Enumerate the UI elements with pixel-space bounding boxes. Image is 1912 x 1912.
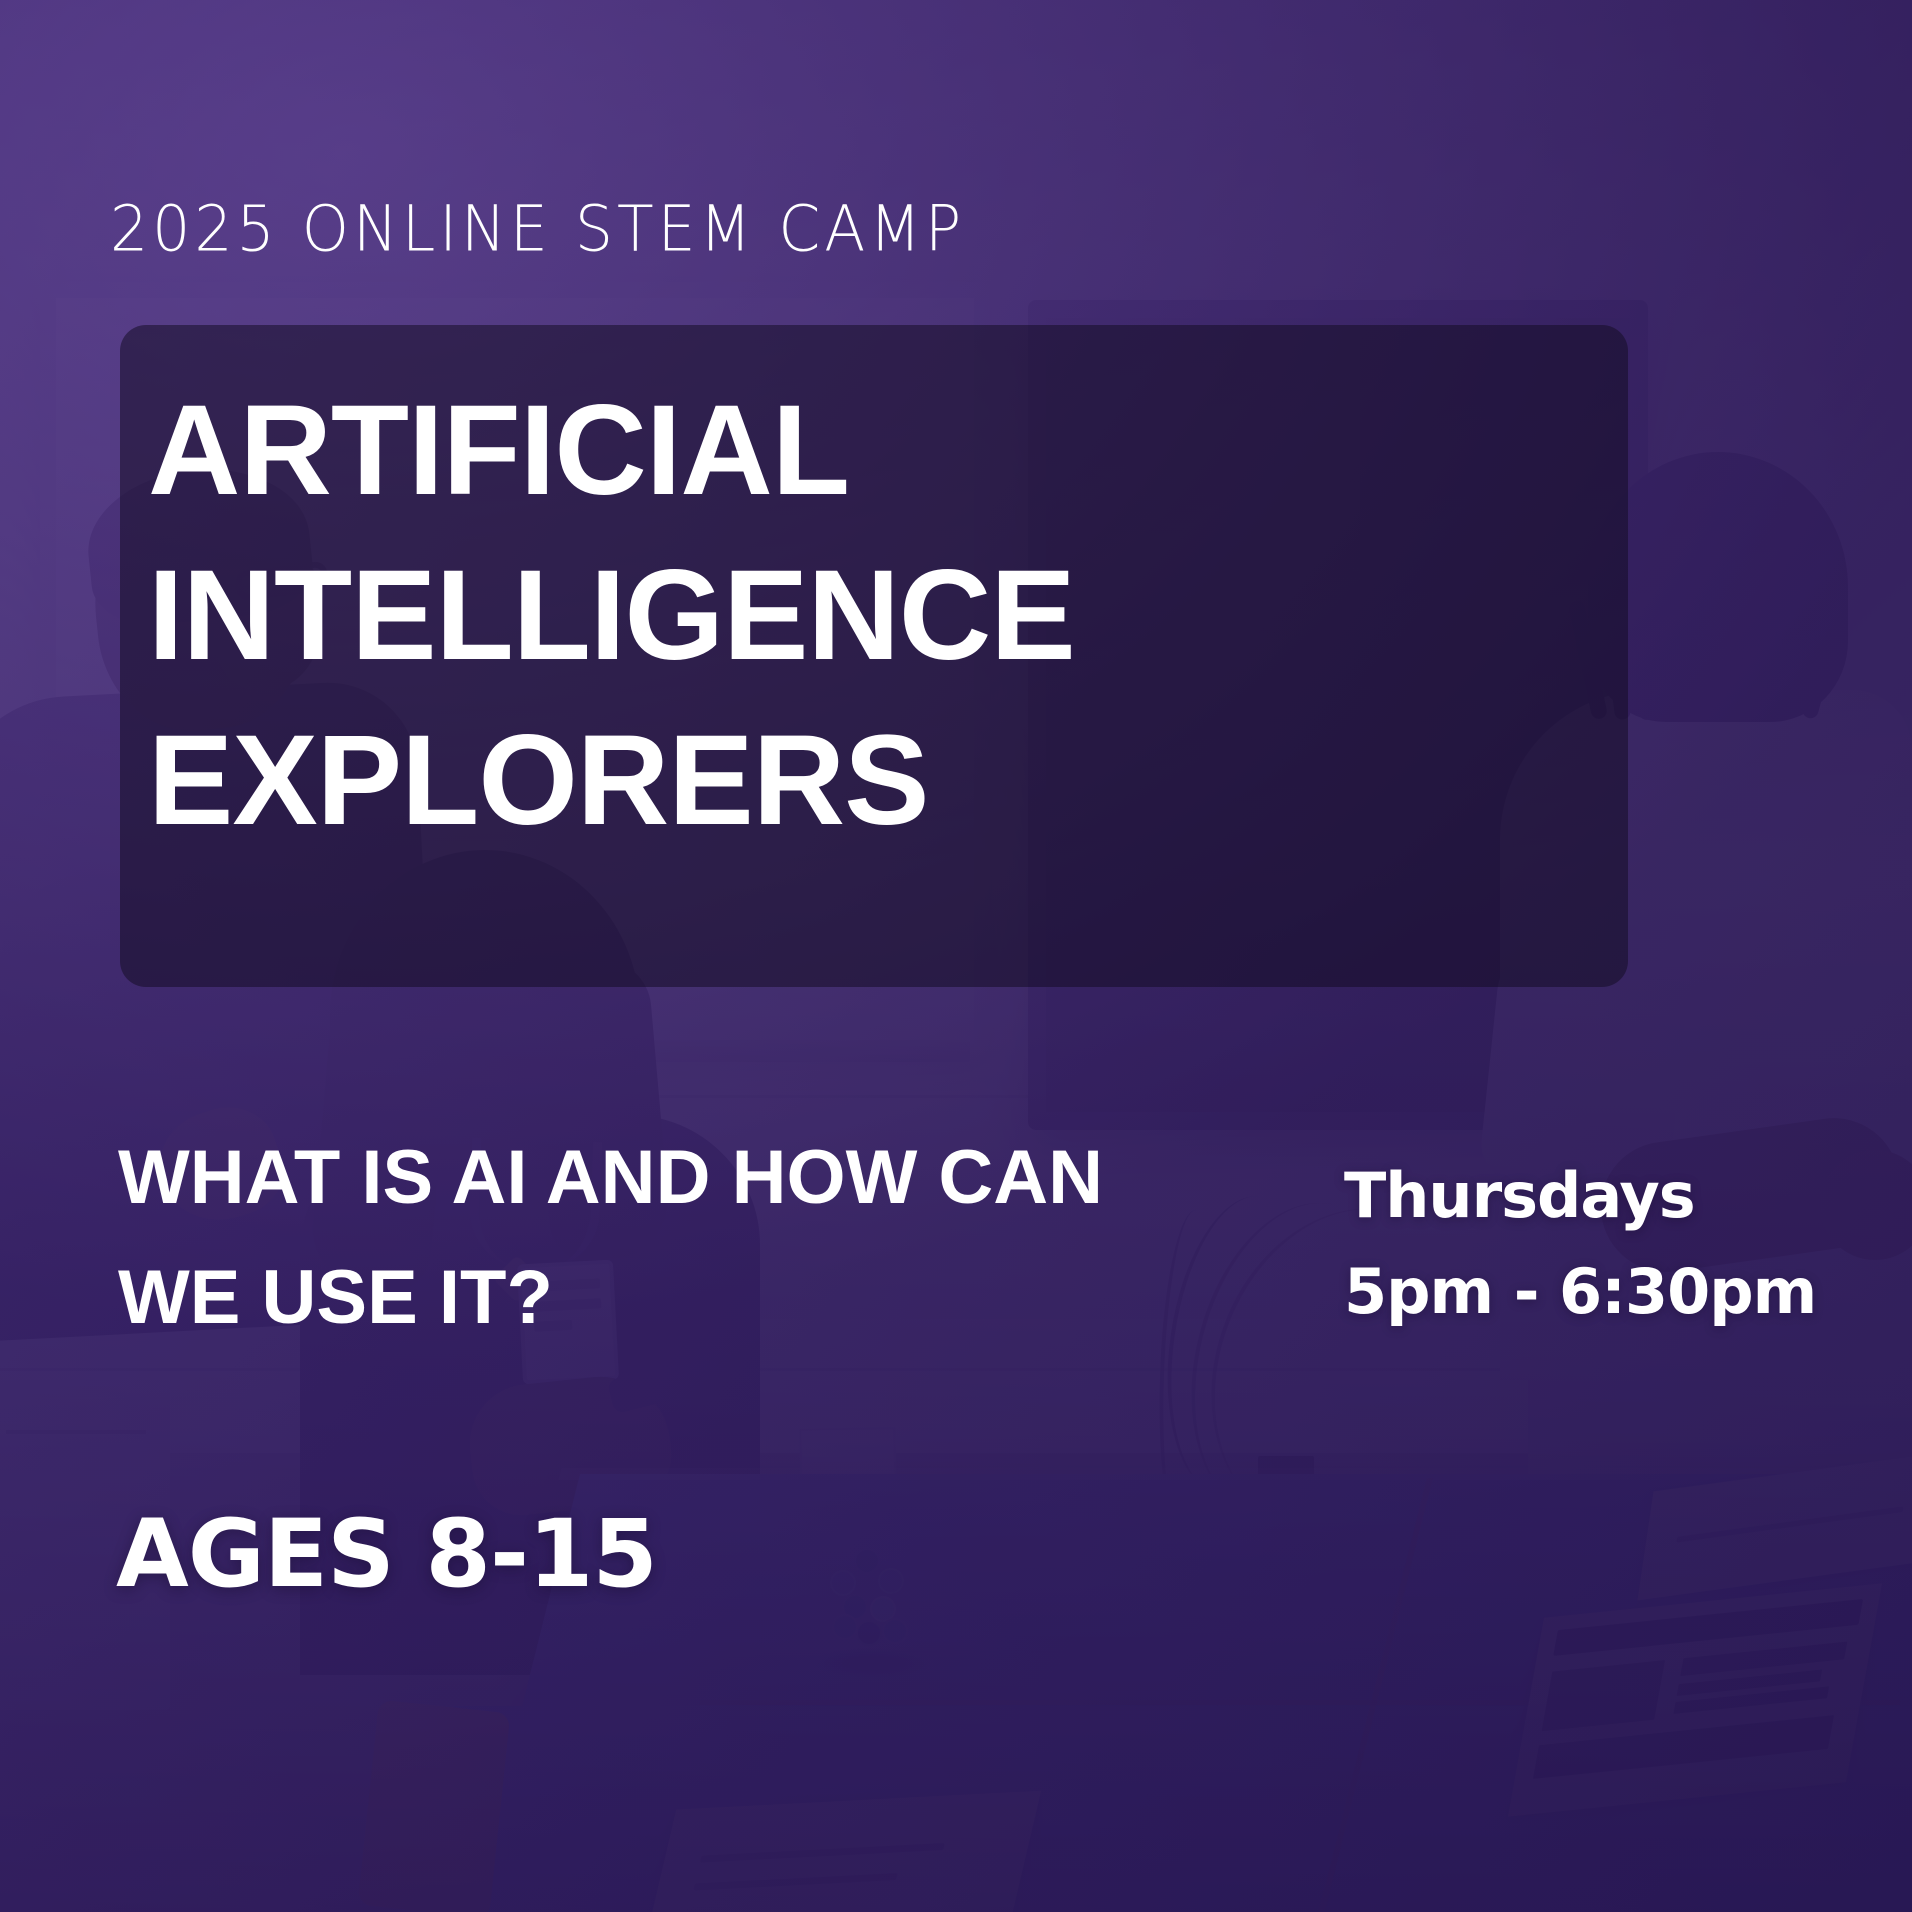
title-line-1: ARTIFICIAL (148, 368, 1548, 533)
tagline-question: WHAT IS AI AND HOW CAN WE USE IT? (118, 1118, 1268, 1358)
schedule-day: Thursdays (1344, 1148, 1816, 1244)
question-line-2: WE USE IT? (118, 1238, 1268, 1358)
schedule-block: Thursdays 5pm - 6:30pm (1344, 1148, 1816, 1340)
schedule-time: 5pm - 6:30pm (1344, 1244, 1816, 1340)
page-title: ARTIFICIAL INTELLIGENCE EXPLORERS (148, 368, 1548, 863)
poster-canvas: 2025 ONLINE STEM CAMP ARTIFICIAL INTELLI… (0, 0, 1912, 1912)
question-line-1: WHAT IS AI AND HOW CAN (118, 1118, 1268, 1238)
eyebrow-label: 2025 ONLINE STEM CAMP (110, 192, 965, 266)
title-line-2: INTELLIGENCE (148, 533, 1548, 698)
title-line-3: EXPLORERS (148, 698, 1548, 863)
age-range-label: AGES 8-15 (116, 1500, 657, 1609)
